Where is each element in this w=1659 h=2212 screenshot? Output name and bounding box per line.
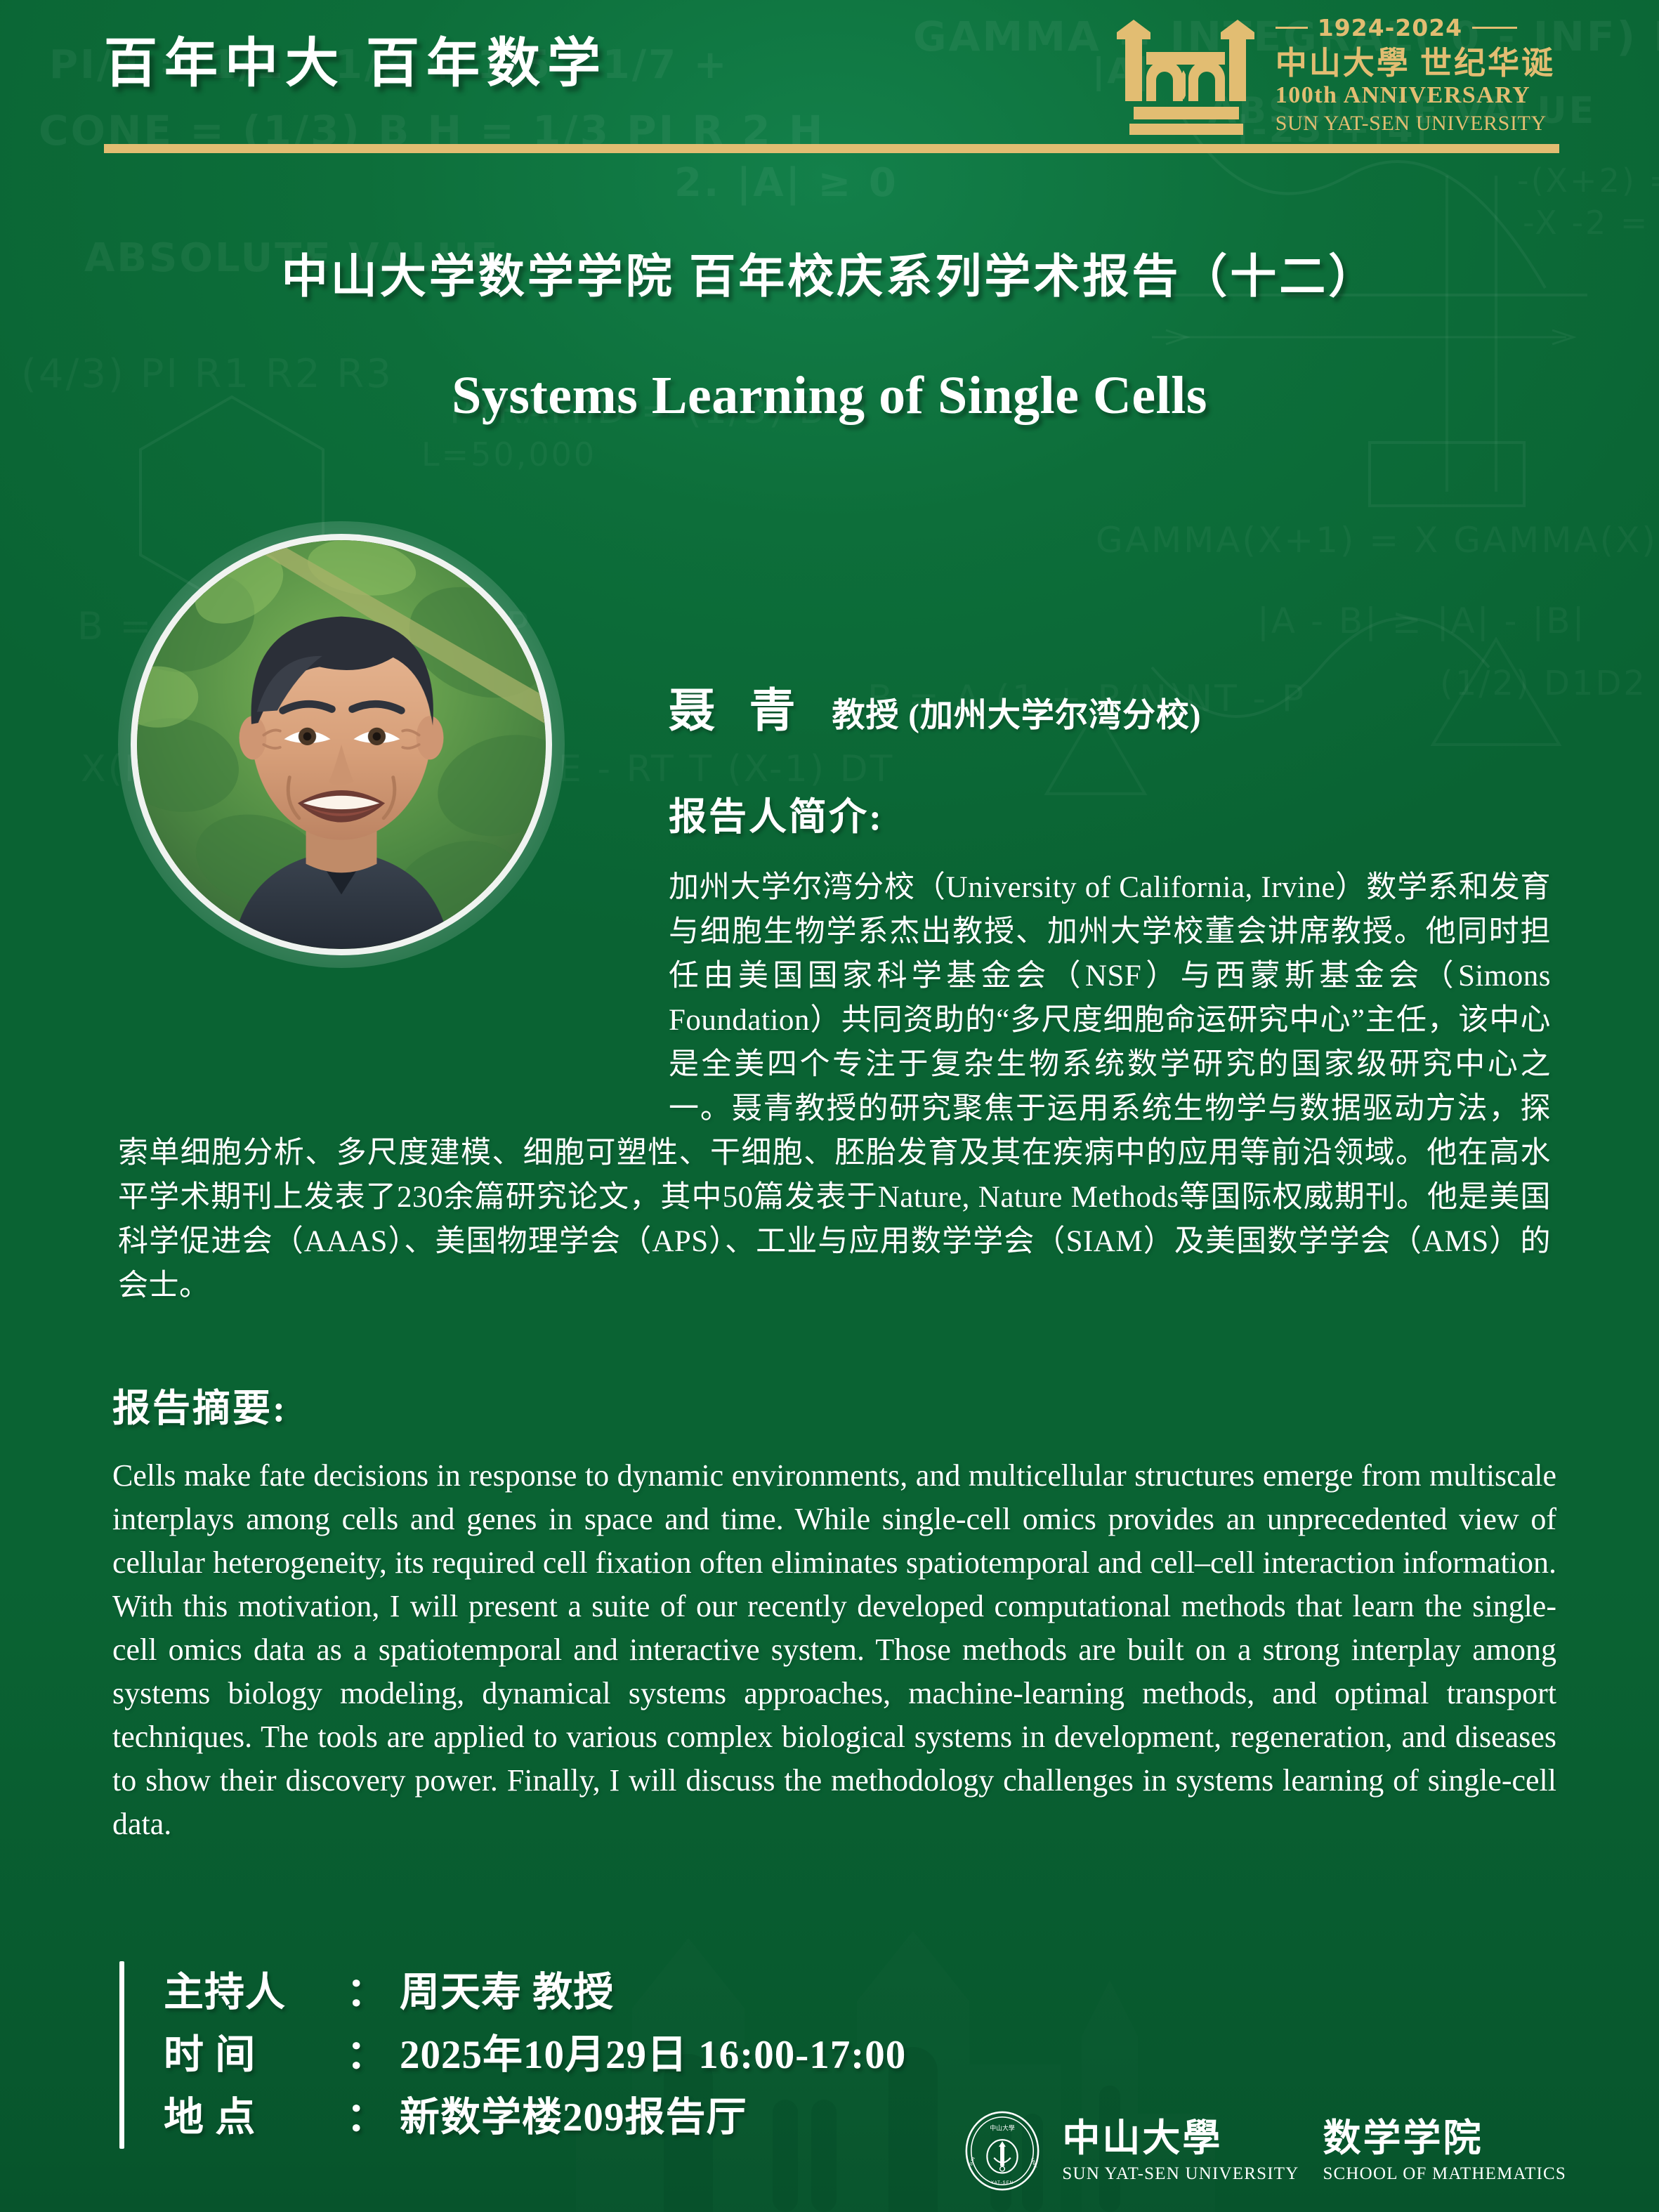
bg-math-text: (1/2) D1D2 bbox=[1440, 664, 1647, 703]
bg-math-text: GAMMA(X+1) = X GAMMA(X) bbox=[1096, 520, 1658, 561]
bg-math-text: |A - B| ≥ |A| - |B| bbox=[1257, 601, 1586, 641]
logo-university: 中山大學 SUN YAT-SEN UNIVERSITY bbox=[1062, 2117, 1299, 2184]
anniversary-columns-icon bbox=[1113, 11, 1260, 136]
bio-photo-float-spacer bbox=[118, 865, 669, 1090]
speaker-affiliation: 教授 (加州大学尔湾分校) bbox=[832, 688, 1202, 736]
banner-title: 百年中大 百年数学 bbox=[104, 20, 608, 97]
detail-value-time: 2025年10月29日 16:00-17:00 bbox=[400, 2024, 906, 2086]
svg-text:SUN: SUN bbox=[969, 2157, 976, 2166]
poster-root: PI/4 = 1/1 - 1/3 + 1/5 - 1/7 + CONE = (1… bbox=[0, 0, 1659, 2212]
detail-colon: ： bbox=[346, 1961, 387, 2024]
details-accent-bar bbox=[119, 1961, 124, 2149]
detail-row: 地 点 ： 新数学楼209报告厅 bbox=[164, 2086, 906, 2149]
gold-divider-rule bbox=[104, 144, 1559, 153]
sysu-footer-logo: 中山大學 YAT-SEN SUN UNIV 中山大學 SUN YAT-SEN U… bbox=[961, 2109, 1566, 2192]
bg-math-text: L=50,000 bbox=[421, 436, 596, 473]
bg-math-text: 2. |A| ≥ 0 bbox=[674, 160, 898, 206]
detail-row: 时 间 ： 2025年10月29日 16:00-17:00 bbox=[164, 2024, 906, 2086]
anniversary-cn-line: 中山大學 世纪华诞 bbox=[1276, 46, 1555, 81]
logo-school-cn: 数学学院 bbox=[1323, 2117, 1566, 2159]
anniversary-logo: 1924-2024 中山大學 世纪华诞 100th ANNIVERSARY SU… bbox=[1113, 11, 1555, 136]
anniversary-years-row: 1924-2024 bbox=[1276, 14, 1555, 41]
abstract-body: Cells make fate decisions in response to… bbox=[112, 1454, 1556, 1846]
logo-university-cn: 中山大學 bbox=[1062, 2117, 1299, 2159]
detail-label-venue: 地 点 bbox=[164, 2086, 346, 2149]
speaker-name: 聂 青 bbox=[669, 673, 807, 740]
anniversary-en-line-1: 100th ANNIVERSARY bbox=[1276, 81, 1555, 111]
logo-school: 数学学院 SCHOOL OF MATHEMATICS bbox=[1323, 2117, 1566, 2184]
bio-body: 加州大学尔湾分校（University of California, Irvin… bbox=[118, 865, 1551, 1308]
logo-text-groups: 中山大學 SUN YAT-SEN UNIVERSITY 数学学院 SCHOOL … bbox=[1062, 2117, 1566, 2184]
bio-heading: 报告人简介: bbox=[669, 785, 884, 841]
detail-colon: ： bbox=[346, 2024, 387, 2086]
logo-school-en: SCHOOL OF MATHEMATICS bbox=[1323, 2164, 1566, 2185]
anniversary-years: 1924-2024 bbox=[1318, 14, 1462, 41]
detail-value-venue: 新数学楼209报告厅 bbox=[400, 2086, 747, 2149]
event-details: 主持人 ： 周天寿 教授 时 间 ： 2025年10月29日 16:00-17:… bbox=[119, 1961, 906, 2149]
detail-label-host: 主持人 bbox=[164, 1961, 346, 2024]
detail-value-host: 周天寿 教授 bbox=[400, 1961, 614, 2024]
bg-math-text: -X -2 = 9 bbox=[1523, 204, 1659, 242]
bg-math-text: -(X+2) = 9 bbox=[1517, 162, 1659, 199]
details-rows: 主持人 ： 周天寿 教授 时 间 ： 2025年10月29日 16:00-17:… bbox=[164, 1961, 906, 2149]
abstract-heading: 报告摘要: bbox=[112, 1377, 287, 1432]
anniversary-en-line-2: SUN YAT-SEN UNIVERSITY bbox=[1276, 111, 1555, 137]
detail-label-time: 时 间 bbox=[164, 2024, 346, 2086]
svg-text:中山大學: 中山大學 bbox=[990, 2124, 1016, 2132]
sysu-seal-icon: 中山大學 YAT-SEN SUN UNIV bbox=[961, 2109, 1044, 2192]
anniversary-text-block: 1924-2024 中山大學 世纪华诞 100th ANNIVERSARY SU… bbox=[1276, 11, 1555, 136]
talk-title: Systems Learning of Single Cells bbox=[0, 365, 1659, 426]
poster-header: 百年中大 百年数学 bbox=[0, 0, 1659, 162]
anniversary-rule-left bbox=[1276, 27, 1308, 29]
speaker-line: 聂 青 教授 (加州大学尔湾分校) bbox=[669, 673, 1202, 740]
anniversary-rule-right bbox=[1472, 27, 1517, 29]
series-title: 中山大学数学学院 百年校庆系列学术报告（十二） bbox=[0, 239, 1659, 306]
detail-colon: ： bbox=[346, 2086, 387, 2149]
logo-university-en: SUN YAT-SEN UNIVERSITY bbox=[1062, 2164, 1299, 2185]
detail-row: 主持人 ： 周天寿 教授 bbox=[164, 1961, 906, 2024]
svg-text:YAT-SEN: YAT-SEN bbox=[991, 2180, 1014, 2185]
